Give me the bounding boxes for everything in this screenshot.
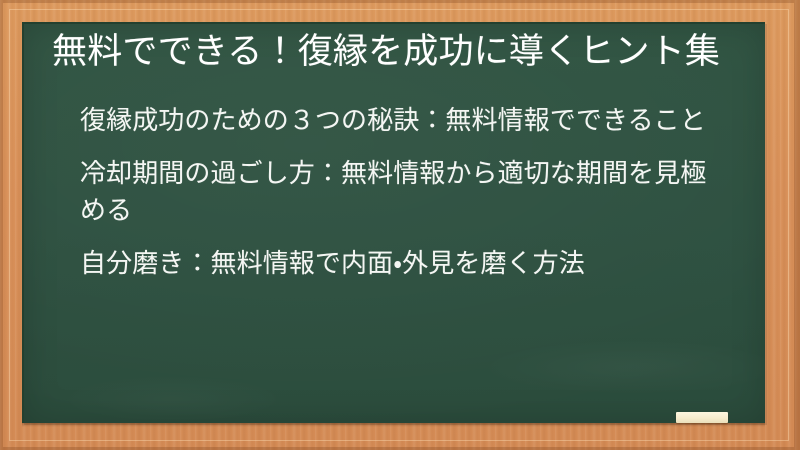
chalkboard-surface: 無料でできる！復縁を成功に導くヒント集 復縁成功のための３つの秘訣：無料情報でで… bbox=[22, 22, 765, 423]
chalk-ledge-shadow bbox=[22, 423, 765, 427]
topic-list: 復縁成功のための３つの秘訣：無料情報でできること 冷却期間の過ごし方：無料情報か… bbox=[52, 102, 741, 282]
list-item: 自分磨き：無料情報で内面・外見を磨く方法 bbox=[80, 245, 723, 282]
chalk-icon bbox=[676, 412, 728, 423]
list-item: 冷却期間の過ごし方：無料情報から適切な期間を見極める bbox=[80, 155, 723, 229]
page-title: 無料でできる！復縁を成功に導くヒント集 bbox=[52, 30, 741, 74]
chalkboard-slide: 無料でできる！復縁を成功に導くヒント集 復縁成功のための３つの秘訣：無料情報でで… bbox=[0, 0, 800, 450]
list-item: 復縁成功のための３つの秘訣：無料情報でできること bbox=[80, 102, 723, 139]
chalkboard-content: 無料でできる！復縁を成功に導くヒント集 復縁成功のための３つの秘訣：無料情報でで… bbox=[24, 24, 765, 423]
